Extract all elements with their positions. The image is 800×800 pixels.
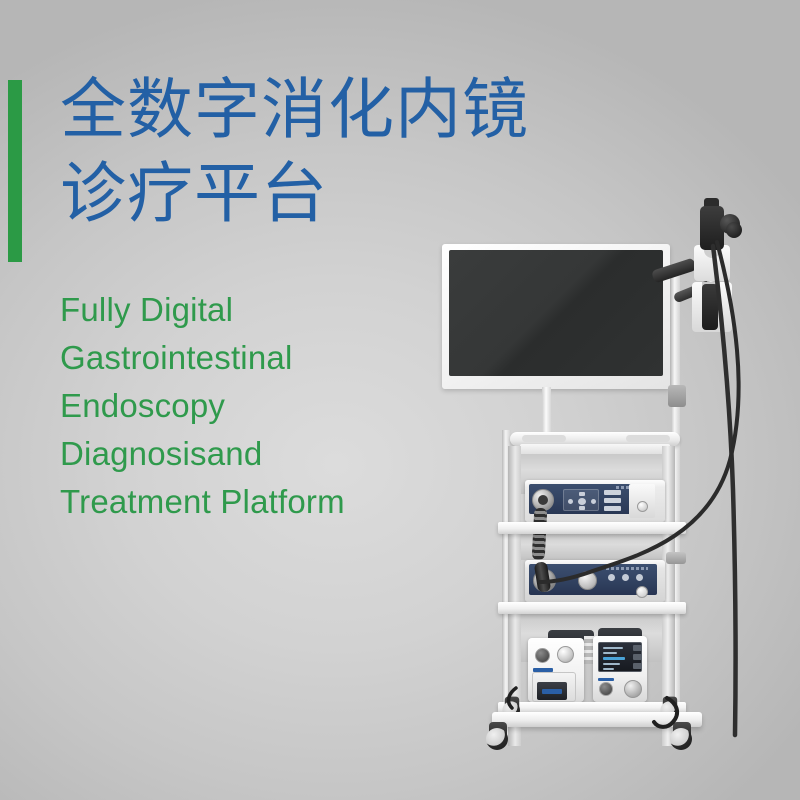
poster-canvas: 全数字消化内镜 诊疗平台 Fully Digital Gastrointesti… xyxy=(0,0,800,800)
power-cable xyxy=(654,698,677,727)
scope-cables xyxy=(430,190,800,800)
green-accent-bar xyxy=(8,80,22,262)
umbilical-cable xyxy=(540,242,739,582)
accessory-cable xyxy=(509,688,516,708)
endoscopy-tower-cart xyxy=(430,190,800,800)
